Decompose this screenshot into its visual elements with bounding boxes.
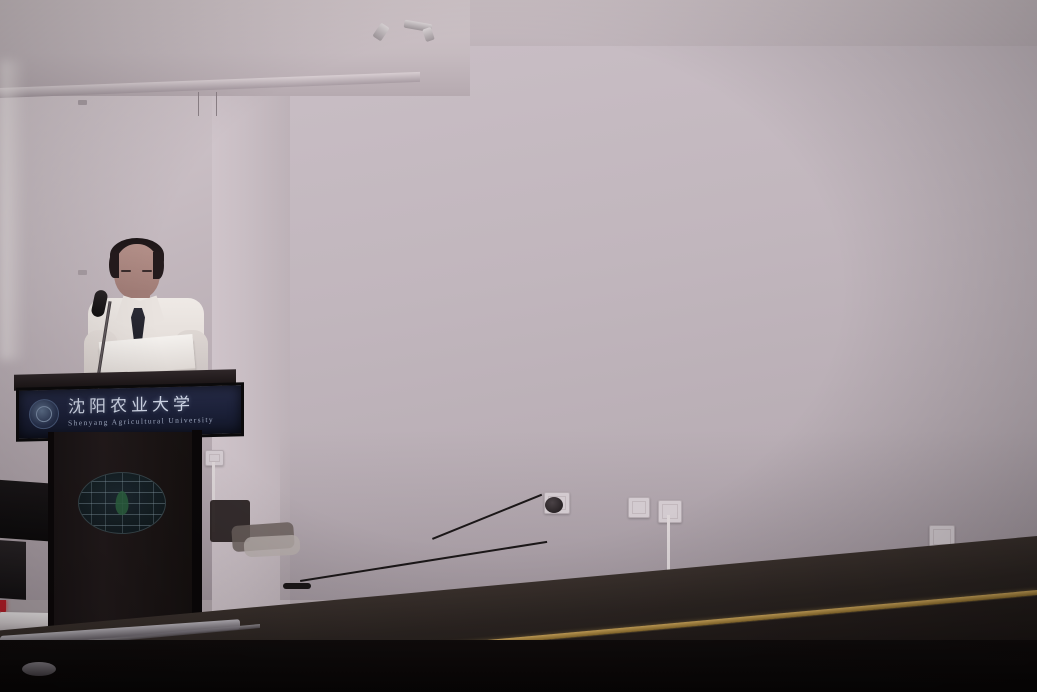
university-name-en: Shenyang Agricultural University bbox=[68, 416, 214, 427]
university-seal-icon bbox=[29, 399, 59, 430]
power-plug-black bbox=[545, 497, 563, 513]
stage-plastic-bag bbox=[244, 535, 301, 558]
speaker-hanger-wire bbox=[216, 92, 217, 116]
pipe-clip bbox=[78, 100, 87, 105]
person-hair-side bbox=[109, 252, 119, 278]
person-hair-side bbox=[153, 252, 164, 279]
university-name-cn: 沈阳农业大学 bbox=[68, 396, 214, 417]
foreground-shadow bbox=[0, 640, 1037, 692]
speaker-power-led bbox=[0, 599, 6, 612]
person-eye bbox=[121, 270, 131, 272]
speaker-hanger-wire bbox=[198, 92, 199, 116]
lecture-hall-photo: 铭记历史致力 缅怀先烈勿忘国耻 以史为鉴警钟长鸣 艰苦奋斗自力更生 兴我祖国爱我… bbox=[0, 0, 1037, 692]
wall-highlight bbox=[0, 60, 26, 360]
person-eye bbox=[142, 270, 152, 272]
wall-speaker-grille bbox=[0, 540, 26, 600]
cable-connector bbox=[283, 583, 311, 589]
globe-leaf-motif bbox=[116, 491, 129, 515]
power-outlet-center[interactable] bbox=[658, 500, 682, 523]
globe-emblem-icon bbox=[78, 472, 166, 534]
switch-plate-center[interactable] bbox=[628, 497, 650, 518]
podium-edge bbox=[192, 430, 202, 630]
foreground-knob bbox=[22, 662, 56, 676]
